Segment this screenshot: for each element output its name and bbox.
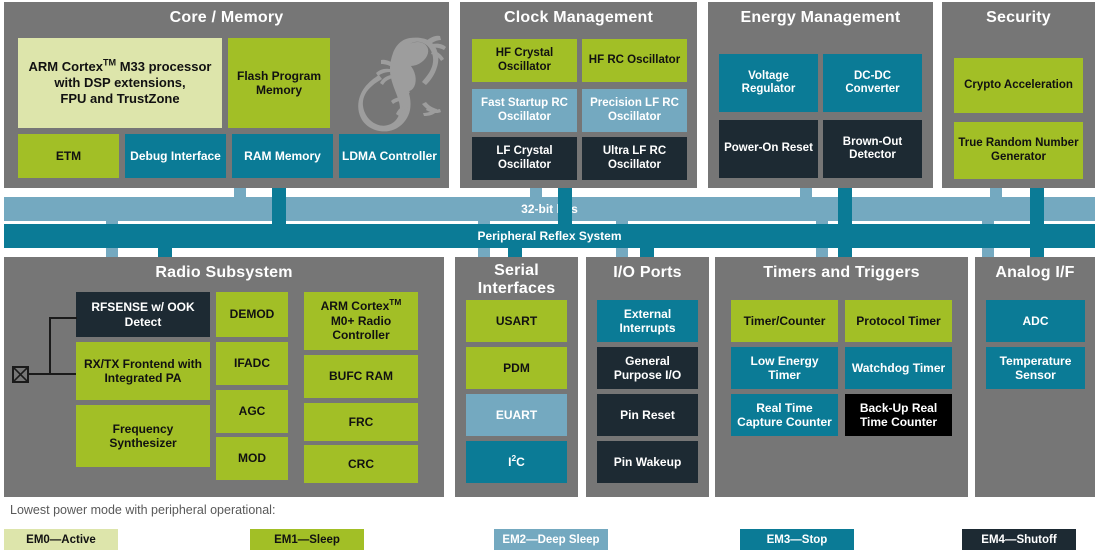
antenna-trace-to-rfsense <box>49 317 77 319</box>
bus-link-core-dark <box>272 197 286 221</box>
block-rx-tx-frontend[interactable]: RX/TX Frontend with Integrated PA <box>76 342 210 400</box>
block-ultra-lf-rc-oscillator[interactable]: Ultra LF RC Oscillator <box>582 137 687 180</box>
bus-32-bit: 32-bit bus <box>4 197 1095 221</box>
block-i2c-label: I2C <box>508 455 525 470</box>
bus-prs-label: Peripheral Reflex System <box>477 229 621 243</box>
block-true-random-number-generator[interactable]: True Random Number Generator <box>954 122 1083 179</box>
soc-block-diagram: Core / Memory <box>0 0 1100 554</box>
block-protocol-timer[interactable]: Protocol Timer <box>845 300 952 342</box>
panel-clock-management: Clock Management HF Crystal Oscillator H… <box>460 2 697 188</box>
legend-chip-em0: EM0—Active <box>4 529 118 550</box>
panel-title-analog-if: Analog I/F <box>975 263 1095 282</box>
panel-analog-if: Analog I/F ADC Temperature Sensor <box>975 257 1095 497</box>
block-mod[interactable]: MOD <box>216 437 288 480</box>
block-timer-counter[interactable]: Timer/Counter <box>731 300 838 342</box>
block-pin-reset[interactable]: Pin Reset <box>597 394 698 436</box>
legend-note: Lowest power mode with peripheral operat… <box>10 503 275 517</box>
block-ifadc[interactable]: IFADC <box>216 342 288 385</box>
block-power-on-reset[interactable]: Power-On Reset <box>719 120 818 178</box>
block-arm-cortex-m33[interactable]: ARM CortexTM M33 processor with DSP exte… <box>18 38 222 128</box>
block-etm[interactable]: ETM <box>18 134 119 178</box>
bus-link-security-dark <box>1030 197 1044 221</box>
block-flash-program-memory[interactable]: Flash Program Memory <box>228 38 330 128</box>
gecko-logo-icon <box>352 28 448 136</box>
radio-controller-line2: M0+ Radio <box>331 314 391 328</box>
block-label-line3: FPU and TrustZone <box>60 91 179 106</box>
panel-radio-subsystem: Radio Subsystem RFSENSE w/ OOK Detect RX… <box>4 257 444 497</box>
panel-title-radio-subsystem: Radio Subsystem <box>4 263 444 282</box>
block-frc[interactable]: FRC <box>304 403 418 441</box>
antenna-trace-horizontal <box>29 373 76 375</box>
block-bufc-ram[interactable]: BUFC RAM <box>304 355 418 398</box>
block-precision-lf-rc-oscillator[interactable]: Precision LF RC Oscillator <box>582 89 687 132</box>
block-pin-wakeup[interactable]: Pin Wakeup <box>597 441 698 483</box>
legend-chip-em4: EM4—Shutoff <box>962 529 1076 550</box>
block-ldma-controller[interactable]: LDMA Controller <box>339 134 440 178</box>
block-real-time-capture-counter[interactable]: Real Time Capture Counter <box>731 394 838 436</box>
panel-title-core-memory: Core / Memory <box>4 8 449 27</box>
block-voltage-regulator[interactable]: Voltage Regulator <box>719 54 818 112</box>
block-label-line2: with DSP extensions, <box>54 75 185 90</box>
legend-chip-em1: EM1—Sleep <box>250 529 364 550</box>
block-crypto-acceleration[interactable]: Crypto Acceleration <box>954 58 1083 113</box>
block-arm-cortex-m0-radio-controller[interactable]: ARM CortexTM M0+ Radio Controller <box>304 292 418 350</box>
panel-title-clock-management: Clock Management <box>460 8 697 27</box>
block-external-interrupts[interactable]: External Interrupts <box>597 300 698 342</box>
block-rfsense-ook-detect[interactable]: RFSENSE w/ OOK Detect <box>76 292 210 337</box>
block-crc[interactable]: CRC <box>304 445 418 483</box>
block-hf-rc-oscillator[interactable]: HF RC Oscillator <box>582 39 687 82</box>
panel-title-security: Security <box>942 8 1095 27</box>
panel-security: Security Crypto Acceleration True Random… <box>942 2 1095 188</box>
panel-title-io-ports: I/O Ports <box>586 263 709 282</box>
block-back-up-real-time-counter[interactable]: Back-Up Real Time Counter <box>845 394 952 436</box>
bus-peripheral-reflex-system: Peripheral Reflex System <box>4 224 1095 248</box>
block-debug-interface[interactable]: Debug Interface <box>125 134 226 178</box>
block-general-purpose-io[interactable]: General Purpose I/O <box>597 347 698 389</box>
block-usart[interactable]: USART <box>466 300 567 342</box>
block-pdm[interactable]: PDM <box>466 347 567 389</box>
panel-timers-and-triggers: Timers and Triggers Timer/Counter Protoc… <box>715 257 968 497</box>
legend-chip-em2: EM2—Deep Sleep <box>494 529 608 550</box>
block-adc[interactable]: ADC <box>986 300 1085 342</box>
block-brown-out-detector[interactable]: Brown-Out Detector <box>823 120 922 178</box>
block-demod[interactable]: DEMOD <box>216 292 288 337</box>
radio-controller-line3: Controller <box>332 328 389 342</box>
panel-energy-management: Energy Management Voltage Regulator DC-D… <box>708 2 933 188</box>
block-fast-startup-rc-oscillator[interactable]: Fast Startup RC Oscillator <box>472 89 577 132</box>
panel-title-serial-interfaces: SerialInterfaces <box>455 262 578 298</box>
block-hf-crystal-oscillator[interactable]: HF Crystal Oscillator <box>472 39 577 82</box>
block-lf-crystal-oscillator[interactable]: LF Crystal Oscillator <box>472 137 577 180</box>
block-euart[interactable]: EUART <box>466 394 567 436</box>
block-watchdog-timer[interactable]: Watchdog Timer <box>845 347 952 389</box>
panel-core-memory: Core / Memory <box>4 2 449 188</box>
block-temperature-sensor[interactable]: Temperature Sensor <box>986 347 1085 389</box>
panel-io-ports: I/O Ports External Interrupts General Pu… <box>586 257 709 497</box>
panel-title-timers-and-triggers: Timers and Triggers <box>715 263 968 282</box>
bus-link-clock-dark <box>558 197 572 221</box>
bus-link-energy-dark <box>838 197 852 221</box>
panel-serial-interfaces: SerialInterfaces USART PDM EUART I2C <box>455 257 578 497</box>
block-agc[interactable]: AGC <box>216 390 288 433</box>
block-frequency-synthesizer[interactable]: Frequency Synthesizer <box>76 405 210 467</box>
antenna-trace-vertical <box>49 317 51 375</box>
block-label-line1: ARM CortexTM M33 processor <box>29 59 212 74</box>
radio-controller-line1: ARM CortexTM <box>321 299 402 313</box>
block-ram-memory[interactable]: RAM Memory <box>232 134 333 178</box>
legend-chip-em3: EM3—Stop <box>740 529 854 550</box>
block-dc-dc-converter[interactable]: DC-DC Converter <box>823 54 922 112</box>
block-low-energy-timer[interactable]: Low Energy Timer <box>731 347 838 389</box>
antenna-port-icon <box>12 366 29 383</box>
panel-title-energy-management: Energy Management <box>708 8 933 27</box>
block-i2c[interactable]: I2C <box>466 441 567 483</box>
